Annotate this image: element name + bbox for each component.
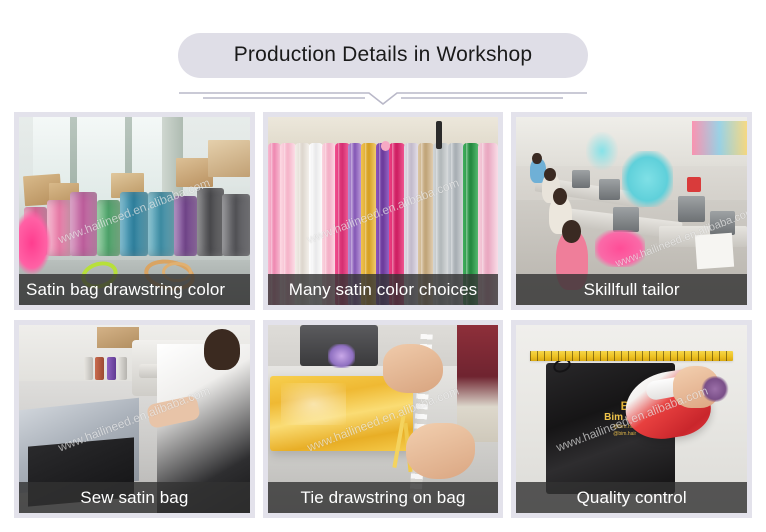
caption-bar: Many satin color choices bbox=[268, 274, 499, 305]
caption-bar: Skillfull tailor bbox=[516, 274, 747, 305]
grid-cell-tie-drawstring-on-bag[interactable]: www.hailineed.en.alibaba.com Tie drawstr… bbox=[263, 320, 504, 518]
caption-label: Tie drawstring on bag bbox=[301, 489, 466, 506]
caption-bar: Sew satin bag bbox=[19, 482, 250, 513]
photo-grid: www.hailineed.en.alibaba.com Satin bag d… bbox=[14, 112, 752, 518]
chevron-down-divider-icon bbox=[177, 87, 589, 109]
caption-bar: Tie drawstring on bag bbox=[268, 482, 499, 513]
page-title: Production Details in Workshop bbox=[234, 44, 533, 65]
grid-cell-many-satin-color-choices[interactable]: www.hailineed.en.alibaba.com Many satin … bbox=[263, 112, 504, 310]
caption-bar: Quality control bbox=[516, 482, 747, 513]
title-divider bbox=[177, 87, 589, 109]
caption-label: Sew satin bag bbox=[80, 489, 188, 506]
logo-handle-facebook: @bim.hair bbox=[613, 431, 636, 438]
grid-cell-quality-control[interactable]: B Bim Hair @bim.hair @bim.hair www.haili… bbox=[511, 320, 752, 518]
banner-header: Production Details in Workshop bbox=[0, 0, 766, 108]
caption-label: Many satin color choices bbox=[289, 281, 478, 298]
grid-cell-sew-satin-bag[interactable]: www.hailineed.en.alibaba.com Sew satin b… bbox=[14, 320, 255, 518]
caption-bar: Satin bag drawstring color bbox=[19, 274, 250, 305]
caption-label: Satin bag drawstring color bbox=[26, 281, 225, 298]
caption-label: Skillfull tailor bbox=[584, 281, 680, 298]
grid-cell-skillfull-tailor[interactable]: www.hailineed.en.alibaba.com Skillfull t… bbox=[511, 112, 752, 310]
measuring-tape-icon bbox=[530, 351, 733, 360]
caption-label: Quality control bbox=[577, 489, 687, 506]
title-pill: Production Details in Workshop bbox=[178, 33, 589, 78]
production-details-banner: Production Details in Workshop bbox=[0, 0, 766, 532]
grid-cell-satin-bag-drawstring-color[interactable]: www.hailineed.en.alibaba.com Satin bag d… bbox=[14, 112, 255, 310]
